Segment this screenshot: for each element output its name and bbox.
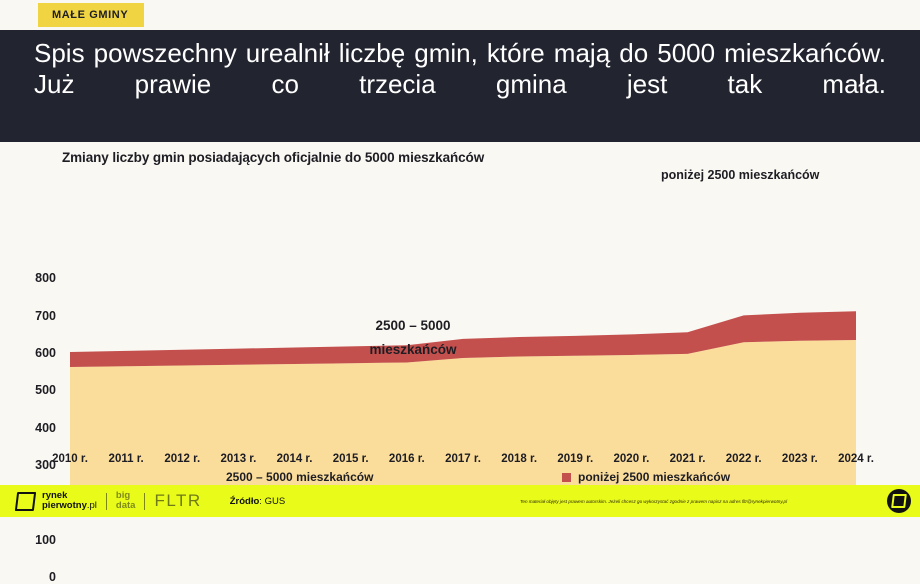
headline-band: Spis powszechny urealnił liczbę gmin, kt… [0, 30, 920, 142]
bigdata-logo: big data [116, 491, 136, 511]
kicker-bar: MAŁE GMINY [0, 0, 920, 30]
x-tick-label-4: 2014 r. [277, 453, 313, 465]
logo-line-2: pierwotny [42, 500, 87, 511]
brand-badge [887, 489, 911, 513]
legend-swatch-red [562, 473, 571, 482]
annotation-line-2: mieszkańców [369, 338, 456, 362]
headline-text: Spis powszechny urealnił liczbę gmin, kt… [34, 38, 886, 132]
source-value: GUS [265, 496, 286, 507]
rynek-pierwotny-logo[interactable]: rynek pierwotny.pl [16, 491, 97, 512]
y-tick-label-500: 500 [35, 383, 56, 397]
y-tick-label-100: 100 [35, 533, 56, 547]
logo-wordmark: rynek pierwotny.pl [42, 491, 97, 512]
y-axis: 0100200300400500600700800 [0, 142, 62, 504]
x-tick-label-10: 2020 r. [614, 453, 650, 465]
x-tick-label-2: 2012 r. [164, 453, 200, 465]
x-tick-label-11: 2021 r. [670, 453, 706, 465]
footer-divider-2 [144, 493, 145, 510]
copyright-note: Ten materiał objęty jest prawem autorski… [520, 499, 787, 504]
x-tick-label-3: 2013 r. [221, 453, 257, 465]
footer-divider-1 [106, 493, 107, 510]
y-tick-label-400: 400 [35, 421, 56, 435]
annotation-line-1: 2500 – 5000 [369, 314, 456, 338]
chart-block: Zmiany liczby gmin posiadających oficjal… [0, 142, 920, 504]
legend-swatch-light [210, 473, 219, 482]
x-tick-label-14: 2024 r. [838, 453, 874, 465]
y-tick-label-800: 800 [35, 271, 56, 285]
x-tick-label-8: 2018 r. [501, 453, 537, 465]
legend-label-red: poniżej 2500 mieszkańców [578, 470, 730, 484]
square-logo-icon [15, 492, 36, 511]
y-tick-label-0: 0 [49, 570, 56, 584]
legend-item-below-2500: poniżej 2500 mieszkańców [562, 470, 730, 484]
annotation-below-2500: poniżej 2500 mieszkańców [661, 168, 819, 182]
bigdata-line-2: data [116, 500, 136, 511]
logo-tld: .pl [87, 500, 97, 511]
annotation-2500-5000: 2500 – 5000 mieszkańców [369, 314, 456, 361]
source-label: Źródło [230, 496, 260, 507]
area-chart-svg [70, 142, 856, 504]
x-tick-label-5: 2015 r. [333, 453, 369, 465]
square-badge-icon [891, 494, 907, 508]
y-tick-label-600: 600 [35, 346, 56, 360]
x-tick-label-6: 2016 r. [389, 453, 425, 465]
x-tick-label-7: 2017 r. [445, 453, 481, 465]
footer-bar: rynek pierwotny.pl big data FLTR Źródło:… [0, 485, 920, 517]
x-tick-label-1: 2011 r. [109, 453, 144, 465]
x-tick-label-13: 2023 r. [782, 453, 818, 465]
fltr-logo: FLTR [154, 491, 201, 511]
plot-area [70, 142, 856, 504]
x-tick-label-9: 2019 r. [557, 453, 593, 465]
source-note: Źródło: GUS [230, 496, 285, 507]
kicker-badge: MAŁE GMINY [38, 3, 144, 27]
x-tick-label-0: 2010 r. [52, 453, 88, 465]
x-tick-label-12: 2022 r. [726, 453, 762, 465]
legend-label-light: 2500 – 5000 mieszkańców [226, 470, 373, 484]
plot-shell: 0100200300400500600700800 2010 r.2011 r.… [0, 142, 920, 504]
legend-item-2500-5000: 2500 – 5000 mieszkańców [210, 470, 373, 484]
y-tick-label-700: 700 [35, 309, 56, 323]
